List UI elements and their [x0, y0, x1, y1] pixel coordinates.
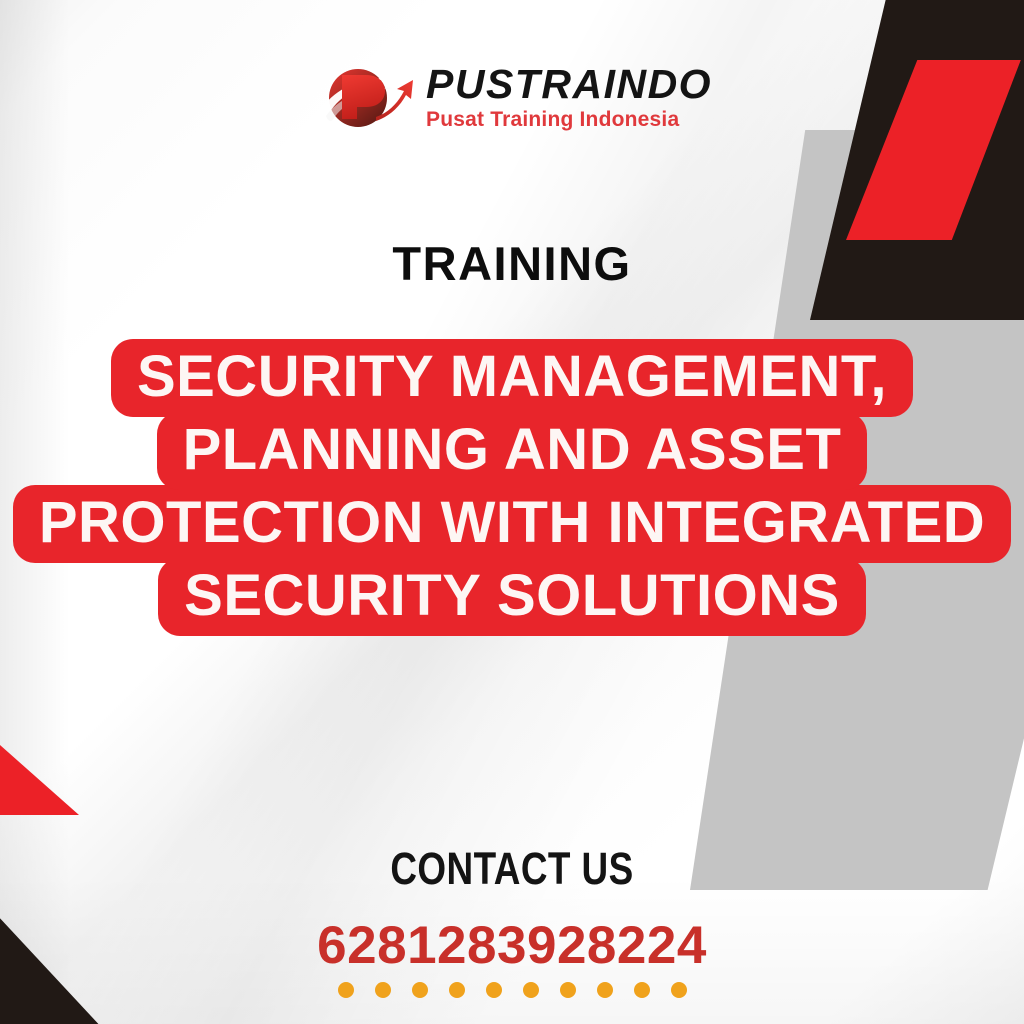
decorative-dot: [560, 982, 576, 998]
headline-line: PLANNING AND ASSET: [157, 412, 868, 490]
decorative-dot: [338, 982, 354, 998]
decorative-dot-row: [0, 982, 1024, 998]
decorative-dot: [523, 982, 539, 998]
decorative-dot: [634, 982, 650, 998]
decorative-dot: [486, 982, 502, 998]
decorative-dot: [412, 982, 428, 998]
decorative-dot: [375, 982, 391, 998]
brand-tagline: Pusat Training Indonesia: [426, 109, 712, 130]
decorative-dot: [671, 982, 687, 998]
headline-line: SECURITY MANAGEMENT,: [111, 339, 913, 417]
brand-wordmark: PUSTRAINDO Pusat Training Indonesia: [426, 64, 712, 130]
decorative-dot: [597, 982, 613, 998]
headline-line: SECURITY SOLUTIONS: [158, 558, 866, 636]
poster-canvas: PUSTRAINDO Pusat Training Indonesia TRAI…: [0, 0, 1024, 1024]
decorative-dot: [449, 982, 465, 998]
headline-line: PROTECTION WITH INTEGRATED: [13, 485, 1011, 563]
brand-name: PUSTRAINDO: [426, 64, 712, 105]
contact-us-label: CONTACT US: [92, 843, 932, 895]
kicker-heading: TRAINING: [0, 236, 1024, 291]
contact-phone-number[interactable]: 6281283928224: [0, 915, 1024, 976]
headline-block: SECURITY MANAGEMENT, PLANNING AND ASSET …: [0, 344, 1024, 636]
pustraindo-globe-arrow-logo-icon: [318, 55, 414, 139]
brand-logo-lockup: PUSTRAINDO Pusat Training Indonesia: [318, 55, 712, 139]
